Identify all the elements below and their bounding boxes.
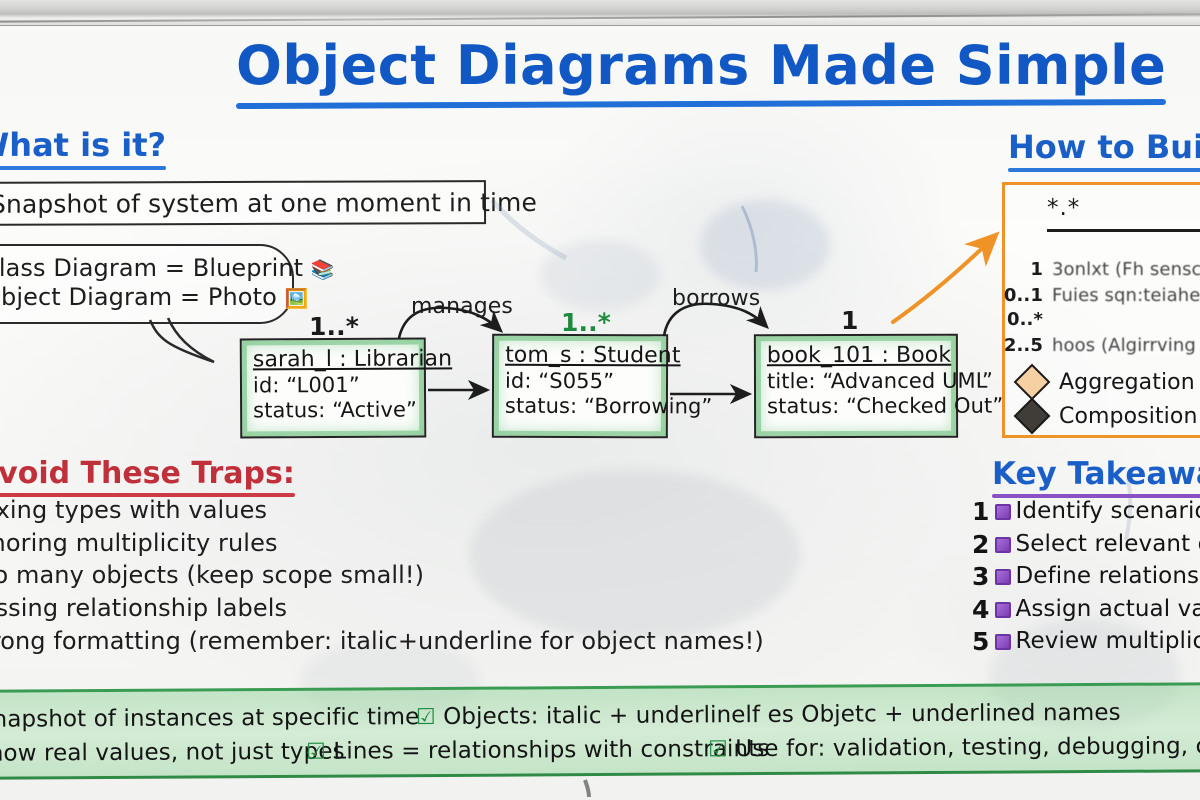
takeaway-item: 5 Review multiplicit bbox=[972, 626, 1200, 659]
takeaway-text: Assign actual valu bbox=[1016, 595, 1200, 625]
marker-scuff bbox=[585, 780, 589, 797]
takeaway-number: 5 bbox=[972, 626, 990, 659]
panel-divider bbox=[1047, 229, 1200, 232]
legend-aggregation: Aggregation bbox=[1019, 369, 1195, 395]
takeaway-number: 4 bbox=[972, 594, 990, 627]
object-header-student: tom_s : Student bbox=[505, 343, 655, 369]
legend-composition: Composition bbox=[1019, 403, 1198, 429]
check-box-icon: ☑ bbox=[306, 740, 326, 765]
filled-diamond-icon bbox=[1014, 398, 1051, 435]
takeaway-item: 2 Select relevant ob bbox=[972, 529, 1200, 562]
speech-bubble-tail bbox=[150, 320, 214, 362]
banner-right-text-1: Objects: italic + underlinelf es Objetc … bbox=[443, 700, 1121, 730]
purple-square-icon bbox=[995, 504, 1011, 520]
object-name-librarian: sarah_l : Librarian bbox=[253, 346, 452, 372]
takeaway-text: Identify scenario bbox=[1016, 497, 1200, 527]
relationship-label-borrows: borrows bbox=[672, 286, 760, 311]
multiplicity-book: 1 bbox=[841, 306, 859, 335]
relationship-label-manages: manages bbox=[411, 294, 513, 319]
section-heading-traps: Avoid These Traps: bbox=[0, 456, 295, 497]
page-title: Object Diagrams Made Simple bbox=[236, 34, 1166, 107]
books-emoji-icon: 📚 bbox=[311, 259, 335, 281]
multiplicity-desc: 3onlxt (Fh sensc bbox=[1052, 259, 1200, 280]
takeaway-number: 2 bbox=[972, 529, 990, 562]
object-attr-book-status: status: “Checked Out” bbox=[767, 394, 945, 420]
banner-right-line-1: ☑ Objects: italic + underlinelf es Objet… bbox=[416, 700, 1121, 730]
trap-item: Too many objects (keep scope small!) bbox=[0, 559, 764, 592]
analogy-line-class: Class Diagram = Blueprint 📚 bbox=[0, 254, 278, 283]
purple-square-icon bbox=[995, 537, 1011, 553]
whiteboard-frame-top bbox=[0, 0, 1200, 26]
multiplicity-desc: hoos (Algirrving bbox=[1052, 335, 1196, 356]
multiplicity-marker: 0..* bbox=[1001, 309, 1043, 330]
section-heading-what-is-it: What is it? bbox=[0, 126, 166, 170]
multiplicity-row: 0..1Fuies sqn:teiahe.. bbox=[1001, 285, 1200, 306]
how-to-build-panel: *.* 13onlxt (Fh sensc 0..1Fuies sqn:teia… bbox=[1002, 182, 1200, 438]
whiteboard: Object Diagrams Made Simple What is it? … bbox=[0, 0, 1200, 800]
page-title-text: Object Diagrams Made Simple bbox=[236, 34, 1166, 97]
object-box-librarian[interactable]: sarah_l : Librarian id: “L001” status: “… bbox=[240, 338, 427, 439]
marker-scuff bbox=[742, 206, 756, 272]
takeaway-number: 1 bbox=[972, 496, 990, 529]
trap-item: Mixing types with values bbox=[0, 494, 764, 527]
object-attr-librarian-status: status: “Active” bbox=[253, 398, 413, 424]
summary-banner: Snapshot of instances at specific time S… bbox=[0, 682, 1200, 779]
section-heading-key-takeaways: Key Takeaways bbox=[992, 456, 1200, 498]
legend-label-composition: Composition bbox=[1059, 404, 1198, 429]
title-underline bbox=[236, 99, 1166, 109]
analogy-class-text: Class Diagram = Blueprint bbox=[0, 254, 303, 282]
banner-left-line-2: Show real values, not just types bbox=[0, 739, 345, 767]
traps-heading-text: Avoid These Traps: bbox=[0, 456, 295, 491]
object-name-book: book_101 : Book bbox=[767, 343, 951, 368]
multiplicity-student: 1..* bbox=[561, 308, 611, 337]
trap-item: Wrong formatting (remember: italic+under… bbox=[0, 625, 764, 658]
multiplicity-row: 0..* bbox=[1001, 309, 1052, 330]
what-is-it-underline bbox=[0, 166, 166, 170]
analogy-object-text: Object Diagram = Photo bbox=[0, 283, 277, 311]
how-to-build-underline bbox=[1008, 168, 1200, 172]
eraser-smudge bbox=[540, 240, 660, 310]
takeaway-text: Review multiplicit bbox=[1016, 627, 1200, 657]
takeaway-item: 3 Define relationshi bbox=[972, 561, 1200, 594]
multiplicity-marker: 2..5 bbox=[1001, 335, 1043, 356]
banner-right-line-2: ☑ Lines = relationships with constraints bbox=[306, 736, 769, 765]
object-attr-student-id: id: “S055” bbox=[505, 369, 655, 395]
multiplicity-marker: 0..1 bbox=[1001, 285, 1043, 306]
definition-text: Snapshot of system at one moment in time bbox=[0, 187, 537, 218]
object-attr-book-title: title: “Advanced UML” bbox=[767, 369, 945, 395]
what-is-it-heading-text: What is it? bbox=[0, 126, 166, 164]
how-to-build-heading-text: How to Build bbox=[1008, 128, 1200, 166]
banner-right-text-3: Use for: validation, testing, debugging,… bbox=[735, 733, 1200, 762]
legend-label-aggregation: Aggregation bbox=[1059, 370, 1195, 395]
takeaway-text: Select relevant ob bbox=[1016, 530, 1200, 560]
multiplicity-marker: 1 bbox=[1001, 259, 1043, 280]
multiplicity-desc: Fuies sqn:teiahe.. bbox=[1052, 285, 1200, 306]
takeaway-text: Define relationshi bbox=[1016, 562, 1200, 592]
analogy-line-object: Object Diagram = Photo 🖼️ bbox=[0, 283, 278, 312]
multiplicity-row: 13onlxt (Fh sensc bbox=[1001, 259, 1200, 280]
trap-item: Missing relationship labels bbox=[0, 592, 764, 625]
object-name-student: tom_s : Student bbox=[505, 343, 681, 369]
purple-square-icon bbox=[995, 602, 1011, 618]
object-box-book[interactable]: book_101 : Book title: “Advanced UML” st… bbox=[754, 334, 958, 439]
banner-left-line-1: Snapshot of instances at specific time bbox=[0, 704, 419, 733]
section-heading-how-to-build: How to Build bbox=[1008, 128, 1200, 172]
panel-star-label: *.* bbox=[1047, 195, 1080, 221]
eraser-smudge bbox=[700, 200, 830, 290]
check-box-icon: ☑ bbox=[708, 737, 728, 762]
trap-item: Ignoring multiplicity rules bbox=[0, 527, 764, 560]
banner-right-line-3: ☑ Use for: validation, testing, debuggin… bbox=[708, 733, 1200, 763]
definition-box: Snapshot of system at one moment in time bbox=[0, 180, 486, 226]
multiplicity-row: 2..5hoos (Algirrving bbox=[1001, 335, 1196, 356]
purple-square-icon bbox=[995, 569, 1011, 585]
takeaway-item: 1 Identify scenario bbox=[972, 496, 1200, 529]
key-takeaways-list: 1 Identify scenario 2 Select relevant ob… bbox=[972, 496, 1200, 659]
orange-pointer-arrow bbox=[893, 236, 995, 322]
object-attr-librarian-id: id: “L001” bbox=[253, 373, 413, 399]
object-attr-student-status: status: “Borrowing” bbox=[505, 394, 655, 420]
takeaway-item: 4 Assign actual valu bbox=[972, 594, 1200, 627]
open-diamond-icon bbox=[1014, 364, 1051, 401]
speech-bubble-tail bbox=[168, 318, 214, 362]
check-box-icon: ☑ bbox=[416, 705, 436, 730]
multiplicity-librarian: 1..* bbox=[309, 312, 359, 341]
traps-list: Mixing types with values Ignoring multip… bbox=[0, 494, 764, 657]
key-takeaways-heading-text: Key Takeaways bbox=[992, 456, 1200, 492]
object-header-book: book_101 : Book bbox=[767, 343, 945, 369]
object-header-librarian: sarah_l : Librarian bbox=[253, 347, 413, 374]
takeaway-number: 3 bbox=[972, 561, 990, 594]
framed-picture-emoji-icon: 🖼️ bbox=[285, 288, 309, 310]
object-box-student[interactable]: tom_s : Student id: “S055” status: “Borr… bbox=[492, 334, 668, 439]
purple-square-icon bbox=[995, 634, 1011, 650]
analogy-speech-bubble: Class Diagram = Blueprint 📚 Object Diagr… bbox=[0, 244, 294, 324]
banner-right-text-2: Lines = relationships with constraints bbox=[333, 736, 769, 765]
